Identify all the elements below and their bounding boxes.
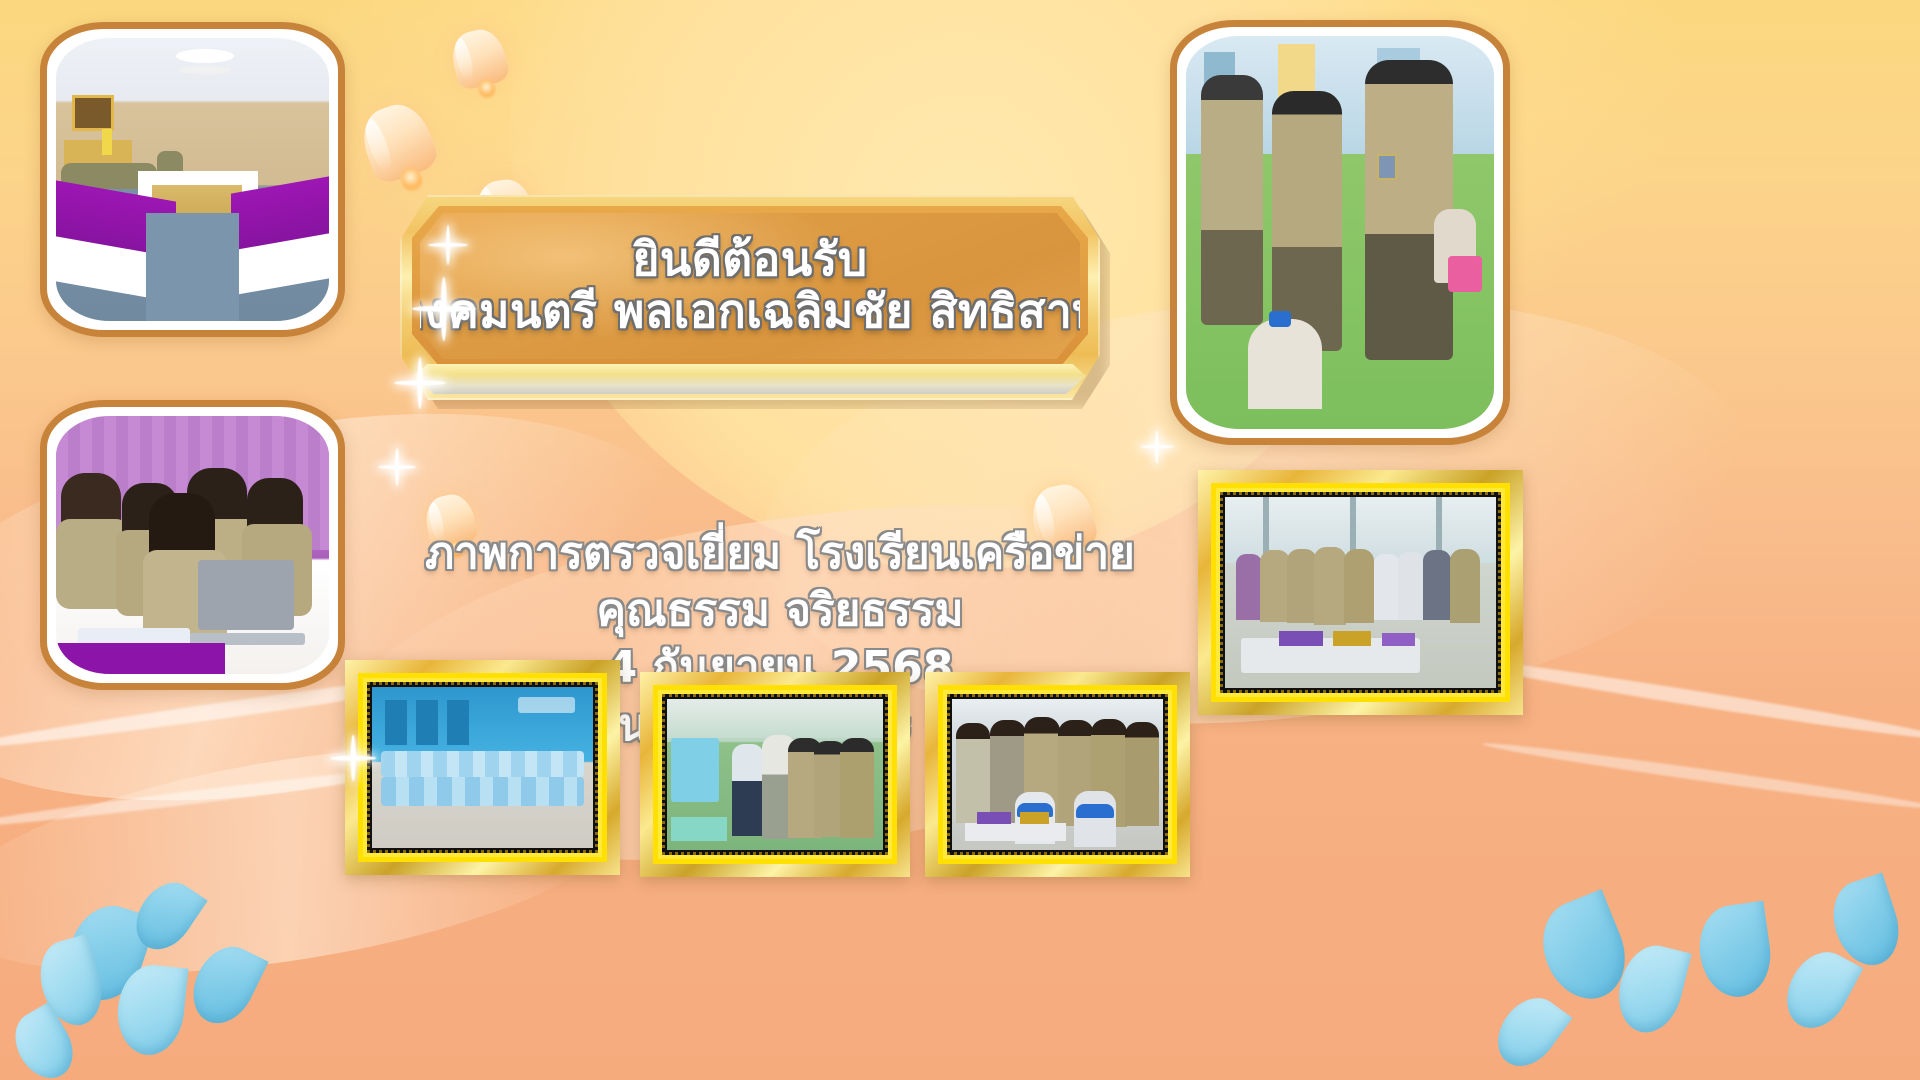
plaque-inner-panel: ยินดีต้อนรับ องคมนตรี พลเอกเฉลิมชัย สิทธ… [420, 213, 1080, 359]
photo-exhibition-visit[interactable] [1198, 470, 1523, 715]
welcome-title-line2: องคมนตรี พลเอกเฉลิมชัย สิทธิสาท [397, 286, 1103, 338]
lantern-icon [354, 96, 447, 205]
lantern-icon [422, 491, 483, 566]
photo-walkway-greeting[interactable] [640, 672, 910, 877]
leaf-decor-icon [1694, 901, 1776, 1002]
sparkle-icon [378, 448, 416, 486]
swoosh-line-4 [1481, 738, 1920, 814]
title-plaque: ยินดีต้อนรับ องคมนตรี พลเอกเฉลิมชัย สิทธ… [400, 195, 1100, 400]
leaf-decor-icon [181, 936, 268, 1033]
photo-student-project[interactable] [925, 672, 1190, 877]
lantern-icon [1026, 479, 1103, 574]
photo-meeting-hall[interactable] [40, 22, 345, 337]
description-line-1: ภาพการตรวจเยี่ยม โรงเรียนเครือข่าย [330, 525, 1230, 582]
sparkle-icon [1140, 430, 1174, 464]
lantern-icon [447, 25, 515, 107]
welcome-title-line1: ยินดีต้อนรับ [632, 234, 867, 286]
photo-group-students[interactable] [345, 660, 620, 875]
poster-canvas: ยินดีต้อนรับ องคมนตรี พลเอกเฉลิมชัย สิทธ… [0, 0, 1920, 1080]
description-line-2: คุณธรรม จริยธรรม [330, 582, 1230, 639]
photo-laptop-presenter[interactable] [40, 400, 345, 690]
leaf-decor-icon [1485, 986, 1572, 1078]
photo-officials-outdoor[interactable] [1170, 20, 1510, 445]
plaque-base-shelf [414, 364, 1086, 394]
